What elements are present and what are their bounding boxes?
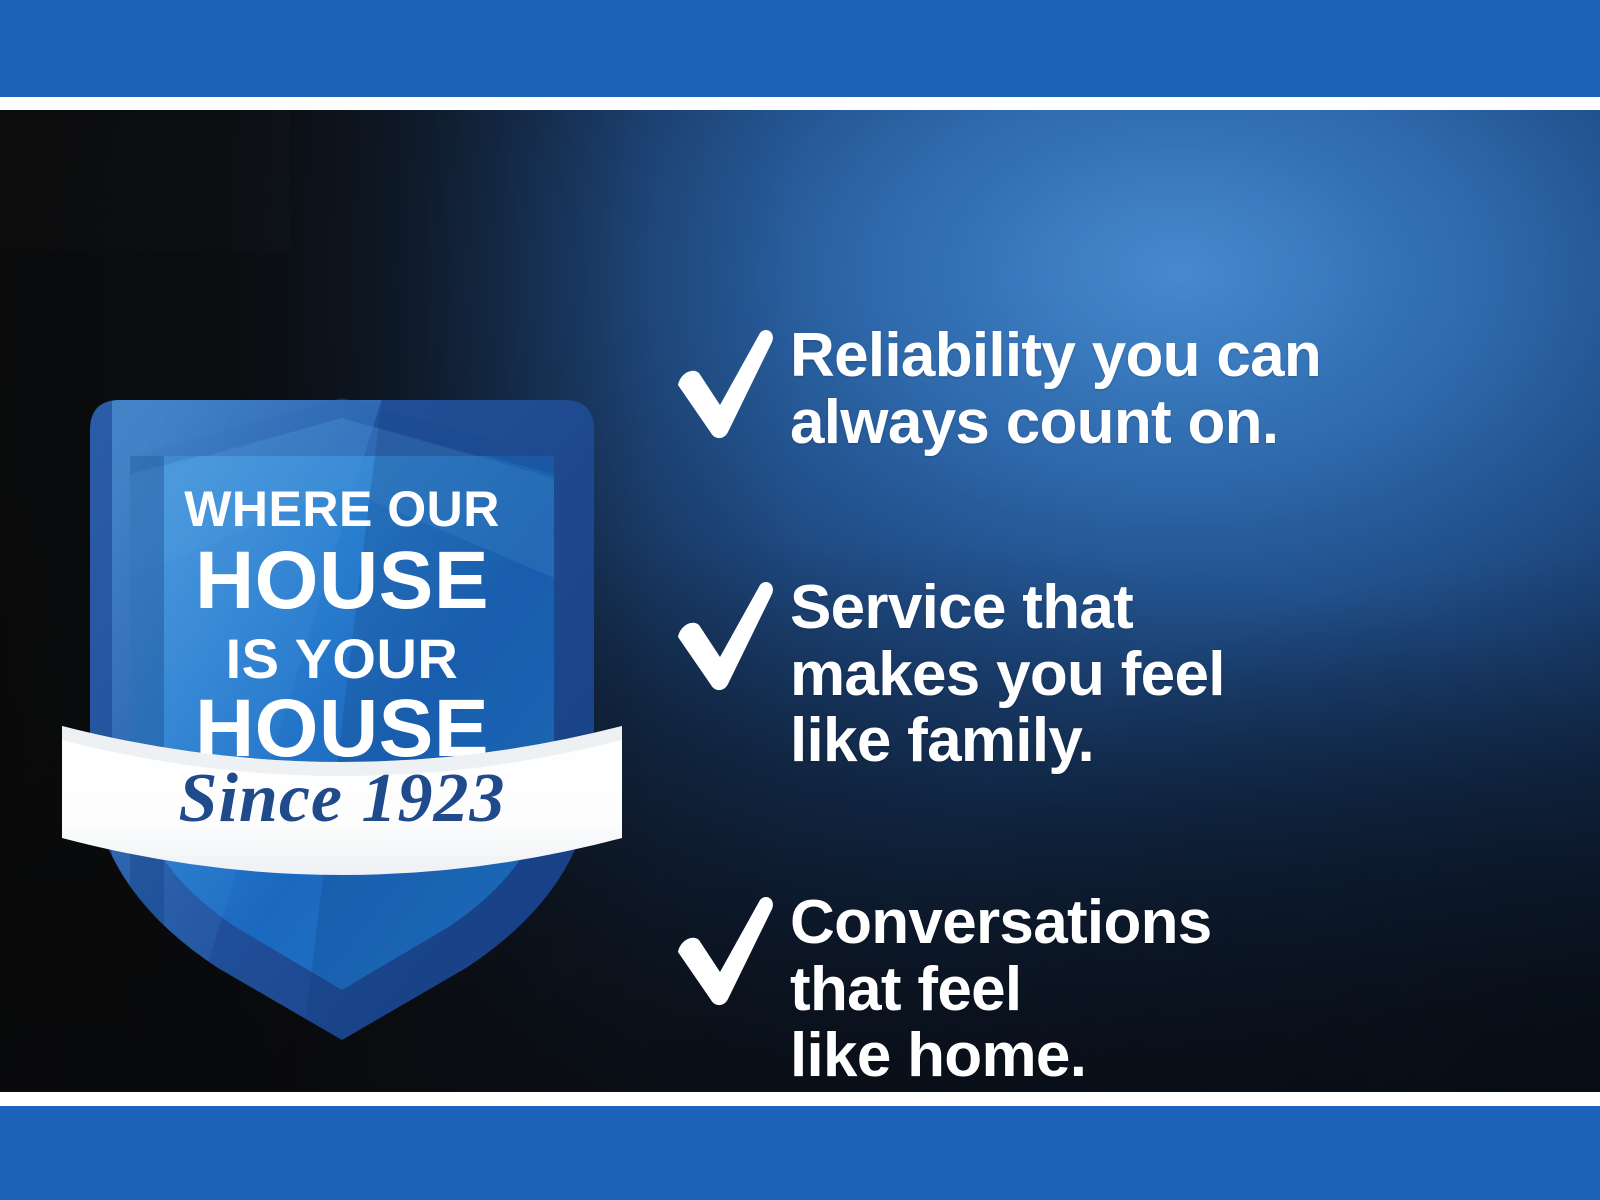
check-icon [672, 323, 790, 441]
bottom-brand-bar [0, 1106, 1600, 1200]
benefit-item: Reliability you can always count on. [672, 323, 1321, 456]
shield-tagline-line-2: IS YOUR [226, 627, 459, 690]
shield-ribbon-text: Since 1923 [179, 760, 506, 837]
benefit-text: Reliability you can always count on. [790, 323, 1321, 456]
promo-poster: WHERE OUR HOUSE IS YOUR HOUSE Since 1923… [0, 0, 1600, 1200]
shield-inner-left-shadow [130, 456, 164, 978]
benefit-item: Conversations that feel like home. [672, 890, 1212, 1090]
benefit-text: Service that makes you feel like family. [790, 575, 1225, 775]
background-grain-texture [0, 110, 290, 250]
benefit-text: Conversations that feel like home. [790, 890, 1212, 1090]
shield-tagline-line-0: WHERE OUR [184, 481, 500, 537]
top-brand-bar [0, 0, 1600, 97]
shield-tagline-line-1: HOUSE [195, 535, 489, 626]
check-icon [672, 890, 790, 1008]
benefits-list: Reliability you can always count on. Ser… [672, 220, 1552, 1092]
benefit-item: Service that makes you feel like family. [672, 575, 1225, 775]
company-shield-logo: WHERE OUR HOUSE IS YOUR HOUSE Since 1923 [52, 278, 632, 1048]
check-icon [672, 575, 790, 693]
poster-stage: WHERE OUR HOUSE IS YOUR HOUSE Since 1923… [0, 110, 1600, 1092]
